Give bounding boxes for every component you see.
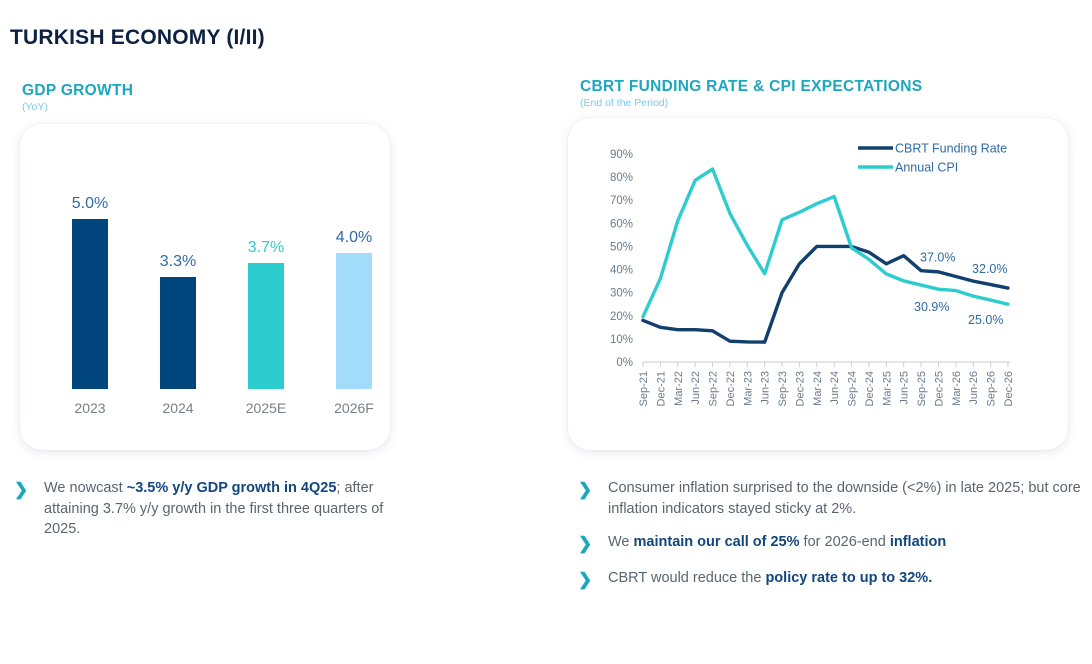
data-point-annotation: 37.0% bbox=[920, 250, 955, 264]
x-axis-tick-label: Mar-26 bbox=[951, 371, 963, 406]
gdp-bar-chart: 5.0%20233.3%20243.7%2025E4.0%2026F bbox=[20, 124, 390, 450]
bar-category-label: 2024 bbox=[134, 400, 222, 416]
x-axis-tick-label: Sep-25 bbox=[916, 371, 928, 406]
y-axis-tick-label: 60% bbox=[610, 218, 633, 230]
y-axis-tick-label: 80% bbox=[610, 172, 633, 184]
data-point-annotation: 25.0% bbox=[968, 313, 1003, 327]
chevron-right-icon: ❯ bbox=[14, 480, 34, 500]
y-axis-tick-label: 40% bbox=[610, 265, 633, 277]
cbrt-bullet-list: ❯Consumer inflation surprised to the dow… bbox=[578, 478, 1083, 603]
cbrt-heading-text: CBRT FUNDING RATE & CPI EXPECTATIONS bbox=[580, 78, 922, 96]
gdp-heading-text: GDP GROWTH bbox=[22, 82, 133, 100]
gdp-subheading-text: (YoY) bbox=[22, 101, 133, 113]
x-axis-tick-label: Mar-23 bbox=[742, 371, 754, 406]
y-axis-tick-label: 20% bbox=[610, 311, 633, 323]
x-axis-tick-label: Dec-25 bbox=[933, 371, 945, 406]
bar-value-label: 5.0% bbox=[72, 195, 108, 213]
x-axis-tick-label: Sep-23 bbox=[777, 371, 789, 406]
x-axis-tick-label: Jun-23 bbox=[760, 371, 772, 405]
chevron-right-icon: ❯ bbox=[578, 534, 598, 554]
bar-column: 3.3% bbox=[134, 253, 222, 389]
gdp-bullet-list: ❯We nowcast ~3.5% y/y GDP growth in 4Q25… bbox=[14, 478, 404, 553]
gdp-growth-card: 5.0%20233.3%20243.7%2025E4.0%2026F bbox=[20, 124, 390, 450]
bar-rect bbox=[72, 219, 108, 389]
bar-category-label: 2025E bbox=[222, 400, 310, 416]
x-axis-tick-label: Dec-26 bbox=[1003, 371, 1015, 406]
x-axis-tick-label: Sep-24 bbox=[847, 371, 859, 406]
bullet-item: ❯Consumer inflation surprised to the dow… bbox=[578, 478, 1083, 519]
bar-category-label: 2026F bbox=[310, 400, 398, 416]
bar-value-label: 3.7% bbox=[248, 239, 284, 257]
y-axis-tick-label: 50% bbox=[610, 241, 633, 253]
y-axis-tick-label: 70% bbox=[610, 195, 633, 207]
series-line bbox=[643, 169, 1008, 317]
cbrt-cpi-line-chart: 0%10%20%30%40%50%60%70%80%90%Sep-21Dec-2… bbox=[568, 118, 1068, 450]
x-axis-tick-label: Jun-26 bbox=[968, 371, 980, 405]
legend-label: Annual CPI bbox=[895, 161, 958, 175]
data-point-annotation: 30.9% bbox=[914, 300, 949, 314]
bar-value-label: 3.3% bbox=[160, 253, 196, 271]
x-axis-tick-label: Mar-24 bbox=[812, 371, 824, 406]
x-axis-tick-label: Jun-25 bbox=[899, 371, 911, 405]
bullet-text: Consumer inflation surprised to the down… bbox=[608, 478, 1083, 519]
slide-root: TURKISH ECONOMY (I/II) GDP GROWTH (YoY) … bbox=[0, 0, 1092, 664]
x-axis-tick-label: Sep-22 bbox=[708, 371, 720, 406]
data-point-annotation: 32.0% bbox=[972, 262, 1007, 276]
x-axis-tick-label: Mar-25 bbox=[881, 371, 893, 406]
bar-rect bbox=[248, 263, 284, 389]
y-axis-tick-label: 10% bbox=[610, 334, 633, 346]
gdp-panel-heading: GDP GROWTH (YoY) bbox=[22, 82, 133, 113]
cbrt-panel-heading: CBRT FUNDING RATE & CPI EXPECTATIONS (En… bbox=[580, 78, 922, 109]
x-axis-tick-label: Dec-24 bbox=[864, 371, 876, 406]
bar-column: 3.7% bbox=[222, 239, 310, 389]
y-axis-tick-label: 0% bbox=[616, 357, 633, 369]
x-axis-tick-label: Sep-21 bbox=[638, 371, 650, 406]
legend-label: CBRT Funding Rate bbox=[895, 142, 1007, 156]
x-axis-tick-label: Jun-22 bbox=[690, 371, 702, 405]
page-title: TURKISH ECONOMY (I/II) bbox=[10, 26, 265, 50]
bullet-item: ❯We maintain our call of 25% for 2026-en… bbox=[578, 532, 1083, 554]
bar-category-label: 2023 bbox=[46, 400, 134, 416]
bar-rect bbox=[160, 277, 196, 389]
bar-rect bbox=[336, 253, 372, 389]
bar-column: 4.0% bbox=[310, 229, 398, 389]
x-axis-tick-label: Dec-22 bbox=[725, 371, 737, 406]
bullet-item: ❯CBRT would reduce the policy rate to up… bbox=[578, 568, 1083, 590]
x-axis-tick-label: Sep-26 bbox=[986, 371, 998, 406]
x-axis-tick-label: Jun-24 bbox=[829, 371, 841, 405]
bullet-text: We maintain our call of 25% for 2026-end… bbox=[608, 532, 946, 553]
x-axis-tick-label: Dec-21 bbox=[655, 371, 667, 406]
x-axis-tick-label: Dec-23 bbox=[794, 371, 806, 406]
y-axis-tick-label: 30% bbox=[610, 288, 633, 300]
bullet-text: CBRT would reduce the policy rate to up … bbox=[608, 568, 932, 589]
cbrt-subheading-text: (End of the Period) bbox=[580, 97, 922, 109]
bar-column: 5.0% bbox=[46, 195, 134, 389]
chevron-right-icon: ❯ bbox=[578, 480, 598, 500]
x-axis-tick-label: Mar-22 bbox=[673, 371, 685, 406]
cbrt-cpi-card: 0%10%20%30%40%50%60%70%80%90%Sep-21Dec-2… bbox=[568, 118, 1068, 450]
bullet-item: ❯We nowcast ~3.5% y/y GDP growth in 4Q25… bbox=[14, 478, 404, 540]
y-axis-tick-label: 90% bbox=[610, 149, 633, 161]
bullet-text: We nowcast ~3.5% y/y GDP growth in 4Q25;… bbox=[44, 478, 404, 540]
chevron-right-icon: ❯ bbox=[578, 570, 598, 590]
bar-value-label: 4.0% bbox=[336, 229, 372, 247]
